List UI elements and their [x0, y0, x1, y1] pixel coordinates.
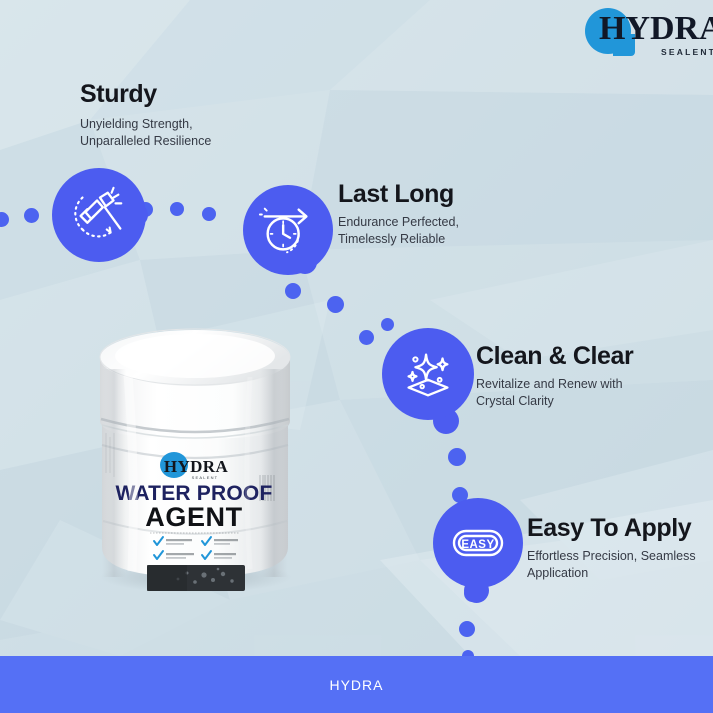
clock-arrow-icon	[257, 199, 319, 261]
sparkle-surface-icon	[397, 343, 459, 405]
feature-subtitle-clean-clear-line2: Crystal Clarity	[476, 393, 554, 410]
feature-title-sturdy: Sturdy	[80, 80, 157, 109]
svg-text:HYDRA: HYDRA	[164, 457, 229, 476]
feature-subtitle-easy-line1: Effortless Precision, Seamless	[527, 548, 696, 565]
footer-bar: HYDRA	[0, 656, 713, 713]
trail-dot	[381, 318, 394, 331]
feature-subtitle-clean-clear-line1: Revitalize and Renew with	[476, 376, 623, 393]
svg-text:AGENT: AGENT	[145, 502, 243, 532]
trail-dot	[170, 202, 184, 216]
feature-subtitle-last-long-line1: Endurance Perfected,	[338, 214, 459, 231]
feature-icon-sparkle-surface	[382, 328, 474, 420]
feature-subtitle-last-long-line2: Timelessly Reliable	[338, 231, 445, 248]
svg-text:SEALENT: SEALENT	[192, 475, 219, 480]
product-jar: HYDRA SEALENT WATER PROOF AGENT	[92, 325, 297, 593]
feature-subtitle-sturdy-line1: Unyielding Strength,	[80, 116, 193, 133]
hammer-icon	[68, 184, 130, 246]
feature-icon-easy-badge: EASY	[433, 498, 523, 588]
feature-icon-hammer	[52, 168, 146, 262]
trail-dot	[202, 207, 216, 221]
infographic-canvas: HYDRA SEALENT Sturdy Unyielding Strength…	[0, 0, 713, 713]
feature-subtitle-sturdy-line2: Unparalleled Resilience	[80, 133, 211, 150]
trail-dot	[327, 296, 344, 313]
feature-subtitle-easy-line2: Application	[527, 565, 588, 582]
trail-dot	[285, 283, 301, 299]
trail-dot	[448, 448, 466, 466]
trail-dot	[24, 208, 39, 223]
trail-dot	[0, 212, 9, 227]
feature-title-clean-clear: Clean & Clear	[476, 342, 633, 371]
footer-brand-text: HYDRA	[329, 677, 383, 693]
trail-dot	[459, 621, 475, 637]
feature-icon-clock-arrow	[243, 185, 333, 275]
feature-title-easy-to-apply: Easy To Apply	[527, 514, 691, 543]
trail-dot	[359, 330, 374, 345]
feature-title-last-long: Last Long	[338, 180, 454, 209]
easy-badge-icon: EASY	[446, 511, 510, 575]
svg-text:EASY: EASY	[461, 539, 494, 551]
